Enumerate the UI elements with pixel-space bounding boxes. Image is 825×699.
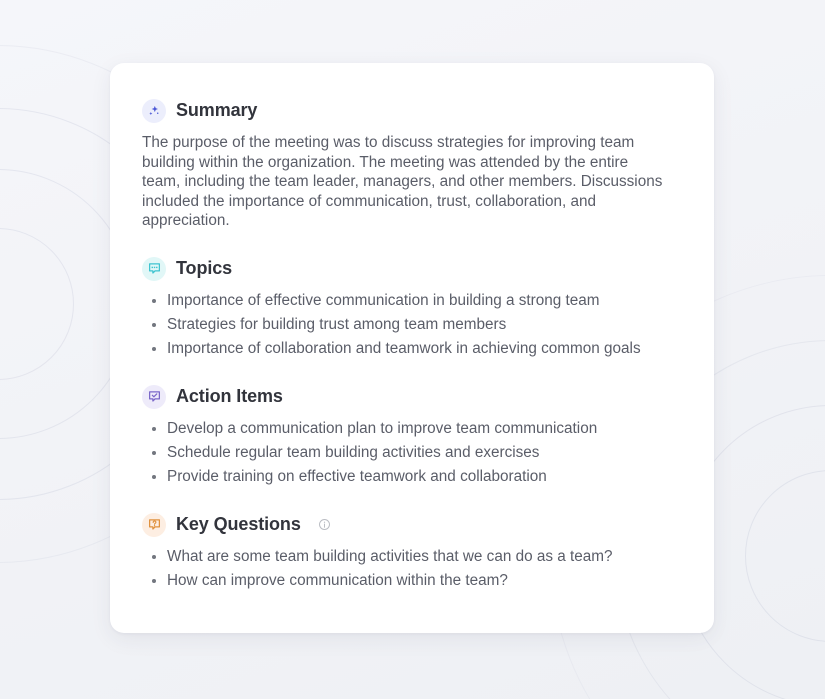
chat-bubble-question-icon [142, 513, 166, 537]
section-title-key-questions: Key Questions [176, 515, 301, 535]
list-item: Schedule regular team building activitie… [142, 443, 682, 463]
section-title-summary: Summary [176, 101, 257, 121]
meeting-notes-card: Summary The purpose of the meeting was t… [110, 63, 714, 633]
list-item: Develop a communication plan to improve … [142, 419, 682, 439]
list-item: What are some team building activities t… [142, 547, 682, 567]
chat-bubble-dots-icon [142, 257, 166, 281]
section-key-questions: Key Questions What are some team buildin… [142, 513, 682, 591]
summary-paragraph: The purpose of the meeting was to discus… [142, 133, 666, 231]
section-header-action-items: Action Items [142, 385, 682, 409]
section-header-topics: Topics [142, 257, 682, 281]
section-action-items: Action Items Develop a communication pla… [142, 385, 682, 487]
chat-bubble-check-icon [142, 385, 166, 409]
list-item: Strategies for building trust among team… [142, 315, 682, 335]
section-header-key-questions: Key Questions [142, 513, 682, 537]
action-items-list: Develop a communication plan to improve … [142, 419, 682, 487]
list-item: Importance of collaboration and teamwork… [142, 339, 682, 359]
topics-list: Importance of effective communication in… [142, 291, 682, 359]
section-header-summary: Summary [142, 99, 682, 123]
section-topics: Topics Importance of effective communica… [142, 257, 682, 359]
list-item: How can improve communication within the… [142, 571, 682, 591]
section-title-topics: Topics [176, 259, 232, 279]
decor-ring-right-1 [745, 470, 825, 642]
decor-ring-left-1 [0, 228, 74, 380]
section-title-action-items: Action Items [176, 387, 283, 407]
list-item: Provide training on effective teamwork a… [142, 467, 682, 487]
sparkle-icon [142, 99, 166, 123]
list-item: Importance of effective communication in… [142, 291, 682, 311]
key-questions-list: What are some team building activities t… [142, 547, 682, 591]
info-circle-icon[interactable] [318, 518, 331, 531]
section-summary: Summary The purpose of the meeting was t… [142, 99, 682, 231]
